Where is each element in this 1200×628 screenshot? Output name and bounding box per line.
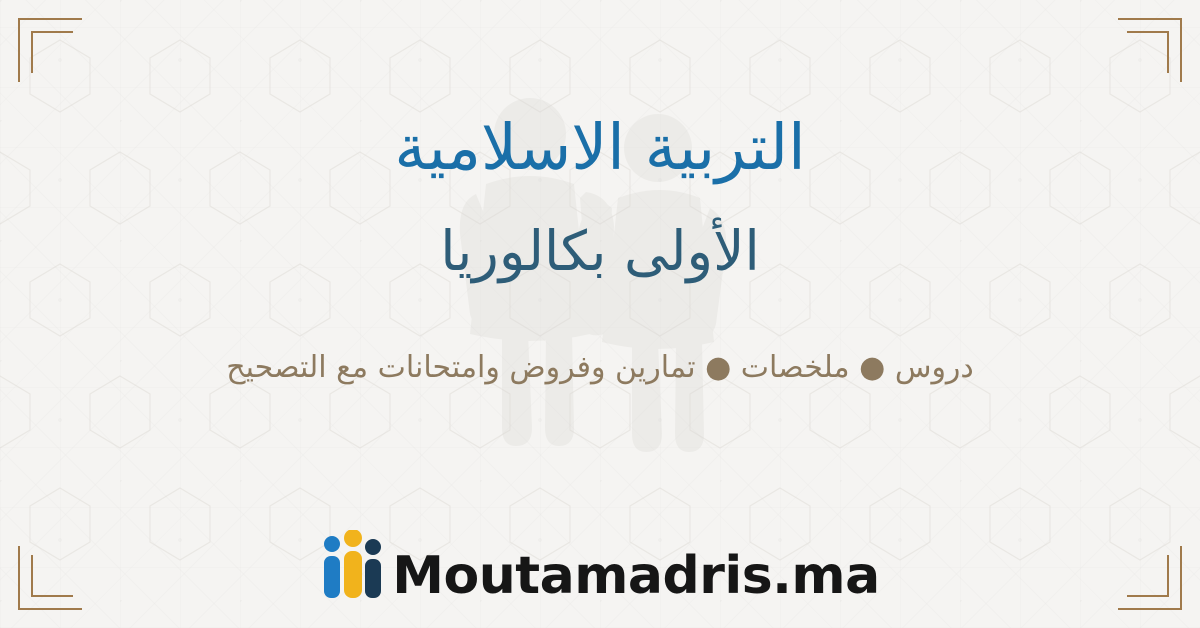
three-people-logo-icon: [320, 530, 384, 600]
page-subtitle: الأولى بكالوريا: [440, 220, 760, 283]
brand-logo: Moutamadris.ma: [0, 530, 1200, 602]
poster-canvas: التربية الاسلامية الأولى بكالوريا دروس ●…: [0, 0, 1200, 628]
poster-tagline: دروس ● ملخصات ● تمارين وفروض وامتحانات م…: [226, 350, 974, 385]
page-title: التربية الاسلامية: [394, 112, 805, 184]
brand-name: Moutamadris.ma: [392, 550, 879, 602]
